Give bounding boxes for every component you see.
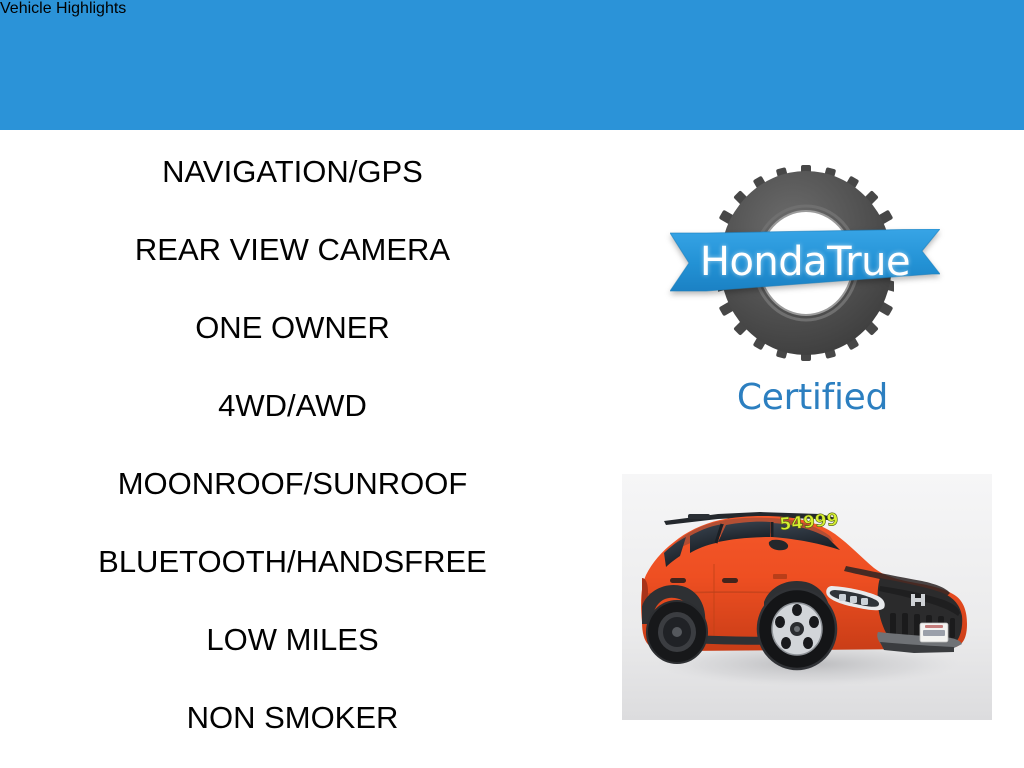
list-item: MOONROOF/SUNROOF bbox=[0, 464, 585, 504]
list-item: ONE OWNER bbox=[0, 308, 585, 348]
list-item: BLUETOOTH/HANDSFREE bbox=[0, 542, 585, 582]
page-title: Vehicle Highlights bbox=[0, 0, 1024, 18]
list-item: 4WD/AWD bbox=[0, 386, 585, 426]
list-item: NAVIGATION/GPS bbox=[0, 152, 585, 192]
badge-brand-label: HondaTrue bbox=[670, 229, 940, 296]
list-item: NON SMOKER bbox=[0, 698, 585, 738]
list-item: REAR VIEW CAMERA bbox=[0, 230, 585, 270]
header-banner: Vehicle Highlights bbox=[0, 0, 1024, 130]
list-item: LOW MILES bbox=[0, 620, 585, 660]
vehicle-photo: 54999 bbox=[622, 474, 992, 720]
hondatrue-certified-badge: HondaTrue Certified bbox=[640, 155, 985, 430]
vehicle-highlights-list: NAVIGATION/GPS REAR VIEW CAMERA ONE OWNE… bbox=[0, 130, 585, 768]
badge-certified-label: Certified bbox=[640, 377, 985, 418]
